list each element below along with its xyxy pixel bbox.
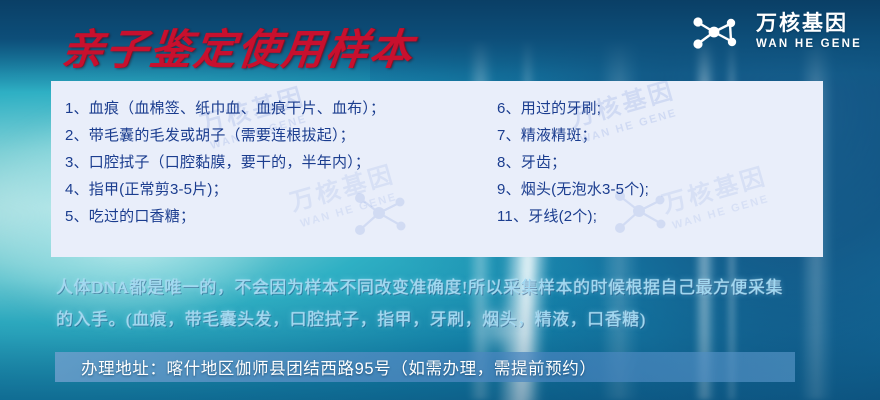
description-line-2: 的入手。(血痕，带毛囊头发，口腔拭子，指甲，牙刷，烟头，精液，口香糖) [56, 304, 836, 336]
list-item: 2、带毛囊的毛发或胡子（需要连根拔起）； [65, 122, 481, 149]
list-item: 5、吃过的口香糖； [65, 203, 481, 230]
list-item: 8、牙齿； [497, 149, 781, 176]
page-title: 亲子鉴定使用样本 [59, 16, 417, 77]
list-item: 3、口腔拭子（口腔黏膜，要干的，半年内）； [65, 149, 481, 176]
brand-name-en: WAN HE GENE [756, 39, 862, 51]
brand-name-cn: 万核基因 [756, 13, 848, 34]
address-bar: 办理地址：喀什地区伽师县团结西路95号（如需办理，需提前预约） [55, 352, 795, 382]
description-text: 人体DNA都是唯一的，不会因为样本不同改变准确度!所以采集样本的时候根据自己最方… [56, 272, 836, 336]
list-item: 6、用过的牙刷; [497, 95, 781, 122]
sample-list-panel: 万核基因 WAN HE GENE 万核基因 WAN HE GENE 万核基因 W… [51, 81, 823, 257]
molecule-nodes-icon [690, 10, 744, 54]
list-item: 4、指甲(正常剪3-5片)； [65, 176, 481, 203]
list-item: 7、精液精斑； [497, 122, 781, 149]
sample-list-left: 1、血痕（血棉签、纸巾血、血痕干片、血布）； 2、带毛囊的毛发或胡子（需要连根拔… [51, 95, 481, 257]
brand-text: 万核基因 WAN HE GENE [756, 13, 862, 51]
list-item: 1、血痕（血棉签、纸巾血、血痕干片、血布）； [65, 95, 481, 122]
brand-logo: 万核基因 WAN HE GENE [690, 10, 862, 54]
description-line-1: 人体DNA都是唯一的，不会因为样本不同改变准确度!所以采集样本的时候根据自己最方… [56, 272, 836, 304]
list-item: 9、烟头(无泡水3-5个); [497, 176, 781, 203]
sample-list-right: 6、用过的牙刷; 7、精液精斑； 8、牙齿； 9、烟头(无泡水3-5个); 11… [481, 95, 781, 257]
address-text: 办理地址：喀什地区伽师县团结西路95号（如需办理，需提前预约） [81, 355, 596, 379]
list-item: 11、牙线(2个); [497, 203, 781, 230]
poster-canvas: 万核基因 WAN HE GENE 亲子鉴定使用样本 万核基因 WAN HE GE… [0, 0, 880, 400]
